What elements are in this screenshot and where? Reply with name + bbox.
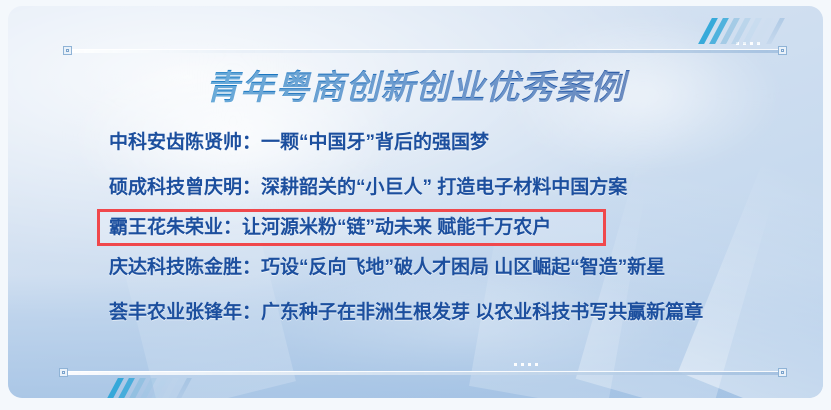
diagonal-slash-icon [766, 18, 785, 44]
list-item: 中科安齿陈贤帅：一颗“中国牙”背后的强国梦 [109, 120, 749, 165]
list-item-label: 中科安齿陈贤帅：一颗“中国牙”背后的强国梦 [109, 130, 489, 156]
dot-marker-group-bottom [514, 363, 538, 366]
list-item-label: 硕成科技曾庆明：深耕韶关的“小巨人” 打造电子材料中国方案 [109, 175, 627, 201]
list-item-label: 荟丰农业张锋年：广东种子在非洲生根发芽 以农业科技书写共赢新篇章 [109, 300, 703, 326]
page-title: 青年粤商创新创业优秀案例 [8, 68, 823, 108]
list-item-highlighted: 霸王花朱荣业：让河源米粉“链”动未来 赋能千万农户 [100, 212, 603, 243]
list-item: 硕成科技曾庆明：深耕韶关的“小巨人” 打造电子材料中国方案 [109, 165, 749, 210]
line-endcap-icon [778, 368, 787, 377]
list-item: 荟丰农业张锋年：广东种子在非洲生根发芽 以农业科技书写共赢新篇章 [109, 290, 749, 335]
case-list: 中科安齿陈贤帅：一颗“中国牙”背后的强国梦 硕成科技曾庆明：深耕韶关的“小巨人”… [109, 120, 749, 335]
line-endcap-icon [59, 368, 68, 377]
line-endcap-icon [63, 46, 72, 55]
list-item-label: 霸王花朱荣业：让河源米粉“链”动未来 赋能千万农户 [109, 215, 551, 241]
list-item: 庆达科技陈金胜：巧设“反向飞地”破人才困局 山区崛起“智造”新星 [109, 245, 749, 290]
line-endcap-icon [778, 46, 787, 55]
list-item-label: 庆达科技陈金胜：巧设“反向飞地”破人才困局 山区崛起“智造”新星 [109, 255, 665, 281]
dot-marker-group-top [736, 42, 760, 45]
divider-line-bottom [66, 371, 782, 375]
diagonal-stripes-icon [698, 18, 773, 44]
slide-panel: 青年粤商创新创业优秀案例 中科安齿陈贤帅：一颗“中国牙”背后的强国梦 硕成科技曾… [8, 6, 823, 398]
divider-line-top [70, 49, 782, 53]
slide-canvas: 青年粤商创新创业优秀案例 中科安齿陈贤帅：一颗“中国牙”背后的强国梦 硕成科技曾… [0, 0, 831, 410]
